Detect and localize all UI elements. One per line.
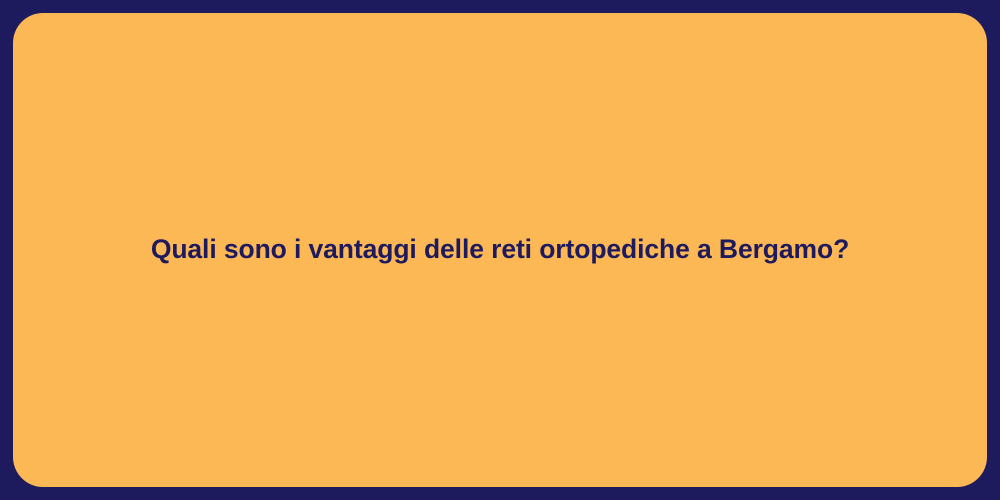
banner-headline: Quali sono i vantaggi delle reti ortoped… — [111, 232, 889, 268]
banner-card: Quali sono i vantaggi delle reti ortoped… — [13, 13, 987, 487]
banner-frame: Quali sono i vantaggi delle reti ortoped… — [0, 0, 1000, 500]
